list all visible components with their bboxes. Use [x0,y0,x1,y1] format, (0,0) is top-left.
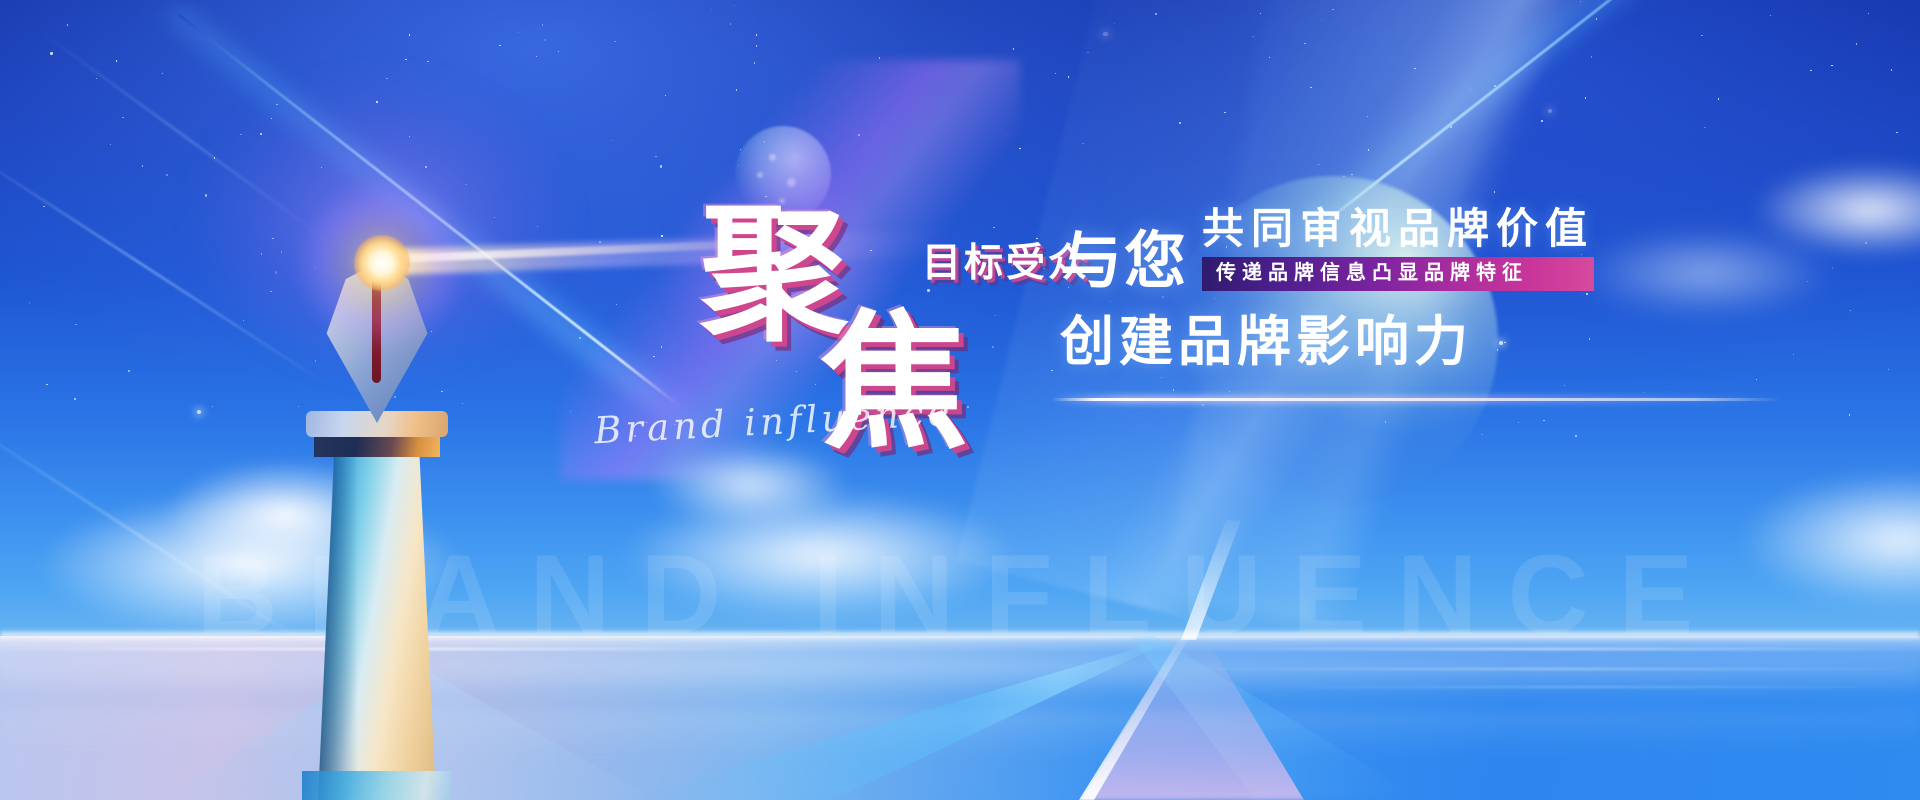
star-icon [214,157,215,158]
star-icon [386,78,387,79]
star-icon [46,384,47,385]
star-icon [661,346,662,347]
star-icon [270,291,271,292]
star-icon [408,365,409,366]
star-icon [1868,13,1869,14]
cloud-icon-left-2 [120,440,450,590]
divider [1052,395,1782,404]
star-icon [653,356,654,357]
star-icon [441,391,442,392]
star-icon [315,267,316,268]
star-icon [661,235,662,236]
star-icon [261,253,262,254]
star-icon [272,238,273,239]
star-icon [240,134,241,135]
headline-right-secondary: 创建品牌影响力 [1060,315,1870,369]
star-icon [427,61,428,62]
star-icon [665,95,666,96]
star-icon [197,410,201,414]
star-icon [1888,369,1889,370]
star-icon [1318,164,1319,165]
star-icon [74,398,76,400]
star-icon [409,34,410,35]
star-icon [462,403,463,404]
star-icon [1013,48,1014,49]
star-icon [1114,23,1115,24]
star-icon [879,57,880,58]
star-icon [1831,65,1832,66]
star-icon [1770,15,1771,16]
star-icon [542,24,543,25]
star-icon [736,89,737,90]
star-icon [394,396,395,397]
star-icon [260,133,261,134]
star-icon [1704,127,1705,128]
star-icon [1321,20,1322,21]
star-icon [67,24,68,25]
copy-block: 聚 焦 目标受众 Brand influence 与您 共同审视品牌价值 传递品… [700,180,1880,610]
with-you-text: 与您 [1060,231,1188,293]
star-icon [1585,97,1586,98]
star-icon [518,32,519,33]
star-icon [1082,143,1083,144]
star-icon [1414,68,1415,69]
star-icon [1701,35,1702,36]
right-copy-column: 与您 共同审视品牌价值 传递品牌信息凸显品牌特征 创建品牌影响力 [1060,208,1870,404]
star-icon [1310,87,1311,88]
light-beam-icon-diag-1 [0,145,329,386]
star-icon [378,318,379,319]
star-icon [1055,73,1056,74]
headline-right-primary: 共同审视品牌价值 [1202,208,1594,250]
star-icon [614,41,615,42]
light-beam-icon-left [178,14,684,410]
star-icon [1856,43,1857,44]
headline-line-1: 与您 共同审视品牌价值 传递品牌信息凸显品牌特征 [1060,208,1870,293]
star-icon [431,331,432,332]
star-icon [612,140,613,141]
star-icon [281,251,282,252]
star-icon [321,167,322,168]
star-icon [616,304,617,305]
star-icon [1304,43,1305,44]
star-icon [1179,122,1180,123]
star-icon [343,350,345,352]
star-icon [494,217,495,218]
star-icon [116,60,117,61]
star-icon [1450,126,1451,127]
star-icon [1269,57,1270,58]
star-icon [711,9,712,10]
star-icon [50,52,52,54]
star-icon [734,5,735,6]
headline-stack: 共同审视品牌价值 传递品牌信息凸显品牌特征 [1202,208,1594,293]
star-icon [537,226,538,227]
star-icon [1351,174,1352,175]
star-icon [499,45,500,46]
star-icon [75,324,76,325]
star-icon [43,206,44,207]
star-icon [1068,76,1069,77]
star-icon [384,252,385,253]
star-icon [271,118,272,119]
star-icon [536,56,537,57]
star-icon [655,156,656,157]
horizon-line [0,630,1920,640]
star-icon [1470,89,1471,90]
star-icon [122,117,123,118]
star-icon [298,406,299,407]
star-icon [96,78,97,79]
star-icon [275,271,277,273]
star-icon [1591,56,1592,57]
star-icon [1810,70,1811,71]
star-icon [558,51,559,52]
light-beam-icon-diag-3 [39,30,331,243]
star-icon [403,317,407,321]
star-icon [1019,148,1020,149]
star-icon [1718,98,1719,99]
star-icon [1252,36,1253,37]
light-beam-icon-left-glow [136,0,701,442]
star-icon [110,144,111,145]
star-icon [1332,9,1333,10]
star-icon [754,62,755,63]
star-icon [738,165,739,166]
star-icon [730,23,731,24]
star-icon [1343,176,1344,177]
star-icon [756,34,757,35]
star-icon [128,370,129,371]
star-icon [243,320,244,321]
brand-banner: BRAND INFLUENCE 聚 焦 [0,0,1920,800]
star-icon [276,104,277,105]
star-icon [579,337,581,339]
star-icon [1580,1,1581,2]
star-icon [660,165,662,167]
star-icon [405,59,406,60]
star-icon [570,411,571,412]
star-icon [764,141,765,142]
star-icon [1224,112,1225,113]
star-icon [166,174,167,175]
star-icon [1548,109,1552,113]
star-icon [599,241,600,242]
star-icon [212,406,213,407]
star-icon [756,45,757,46]
star-icon [1367,116,1368,117]
star-icon [1006,134,1007,135]
star-icon [1087,52,1088,53]
star-icon [162,73,163,74]
sea-band [0,636,1920,800]
star-icon [1103,32,1107,36]
star-icon [376,101,377,102]
status-badge: 传递品牌信息凸显品牌特征 [1202,257,1594,291]
star-icon [409,136,410,137]
star-icon [740,149,741,150]
star-icon [1494,85,1496,87]
star-icon [465,184,466,185]
star-icon [205,194,207,196]
star-icon [1155,13,1156,14]
star-icon [425,166,426,167]
star-icon [1260,13,1261,14]
star-icon [1368,149,1369,150]
star-icon [142,165,143,166]
star-icon [1596,18,1597,19]
star-icon [1541,120,1542,121]
star-icon [544,39,546,41]
star-icon [858,134,860,136]
star-icon [1891,69,1892,70]
star-icon [315,360,316,361]
star-icon [29,302,30,303]
star-icon [1896,132,1897,133]
